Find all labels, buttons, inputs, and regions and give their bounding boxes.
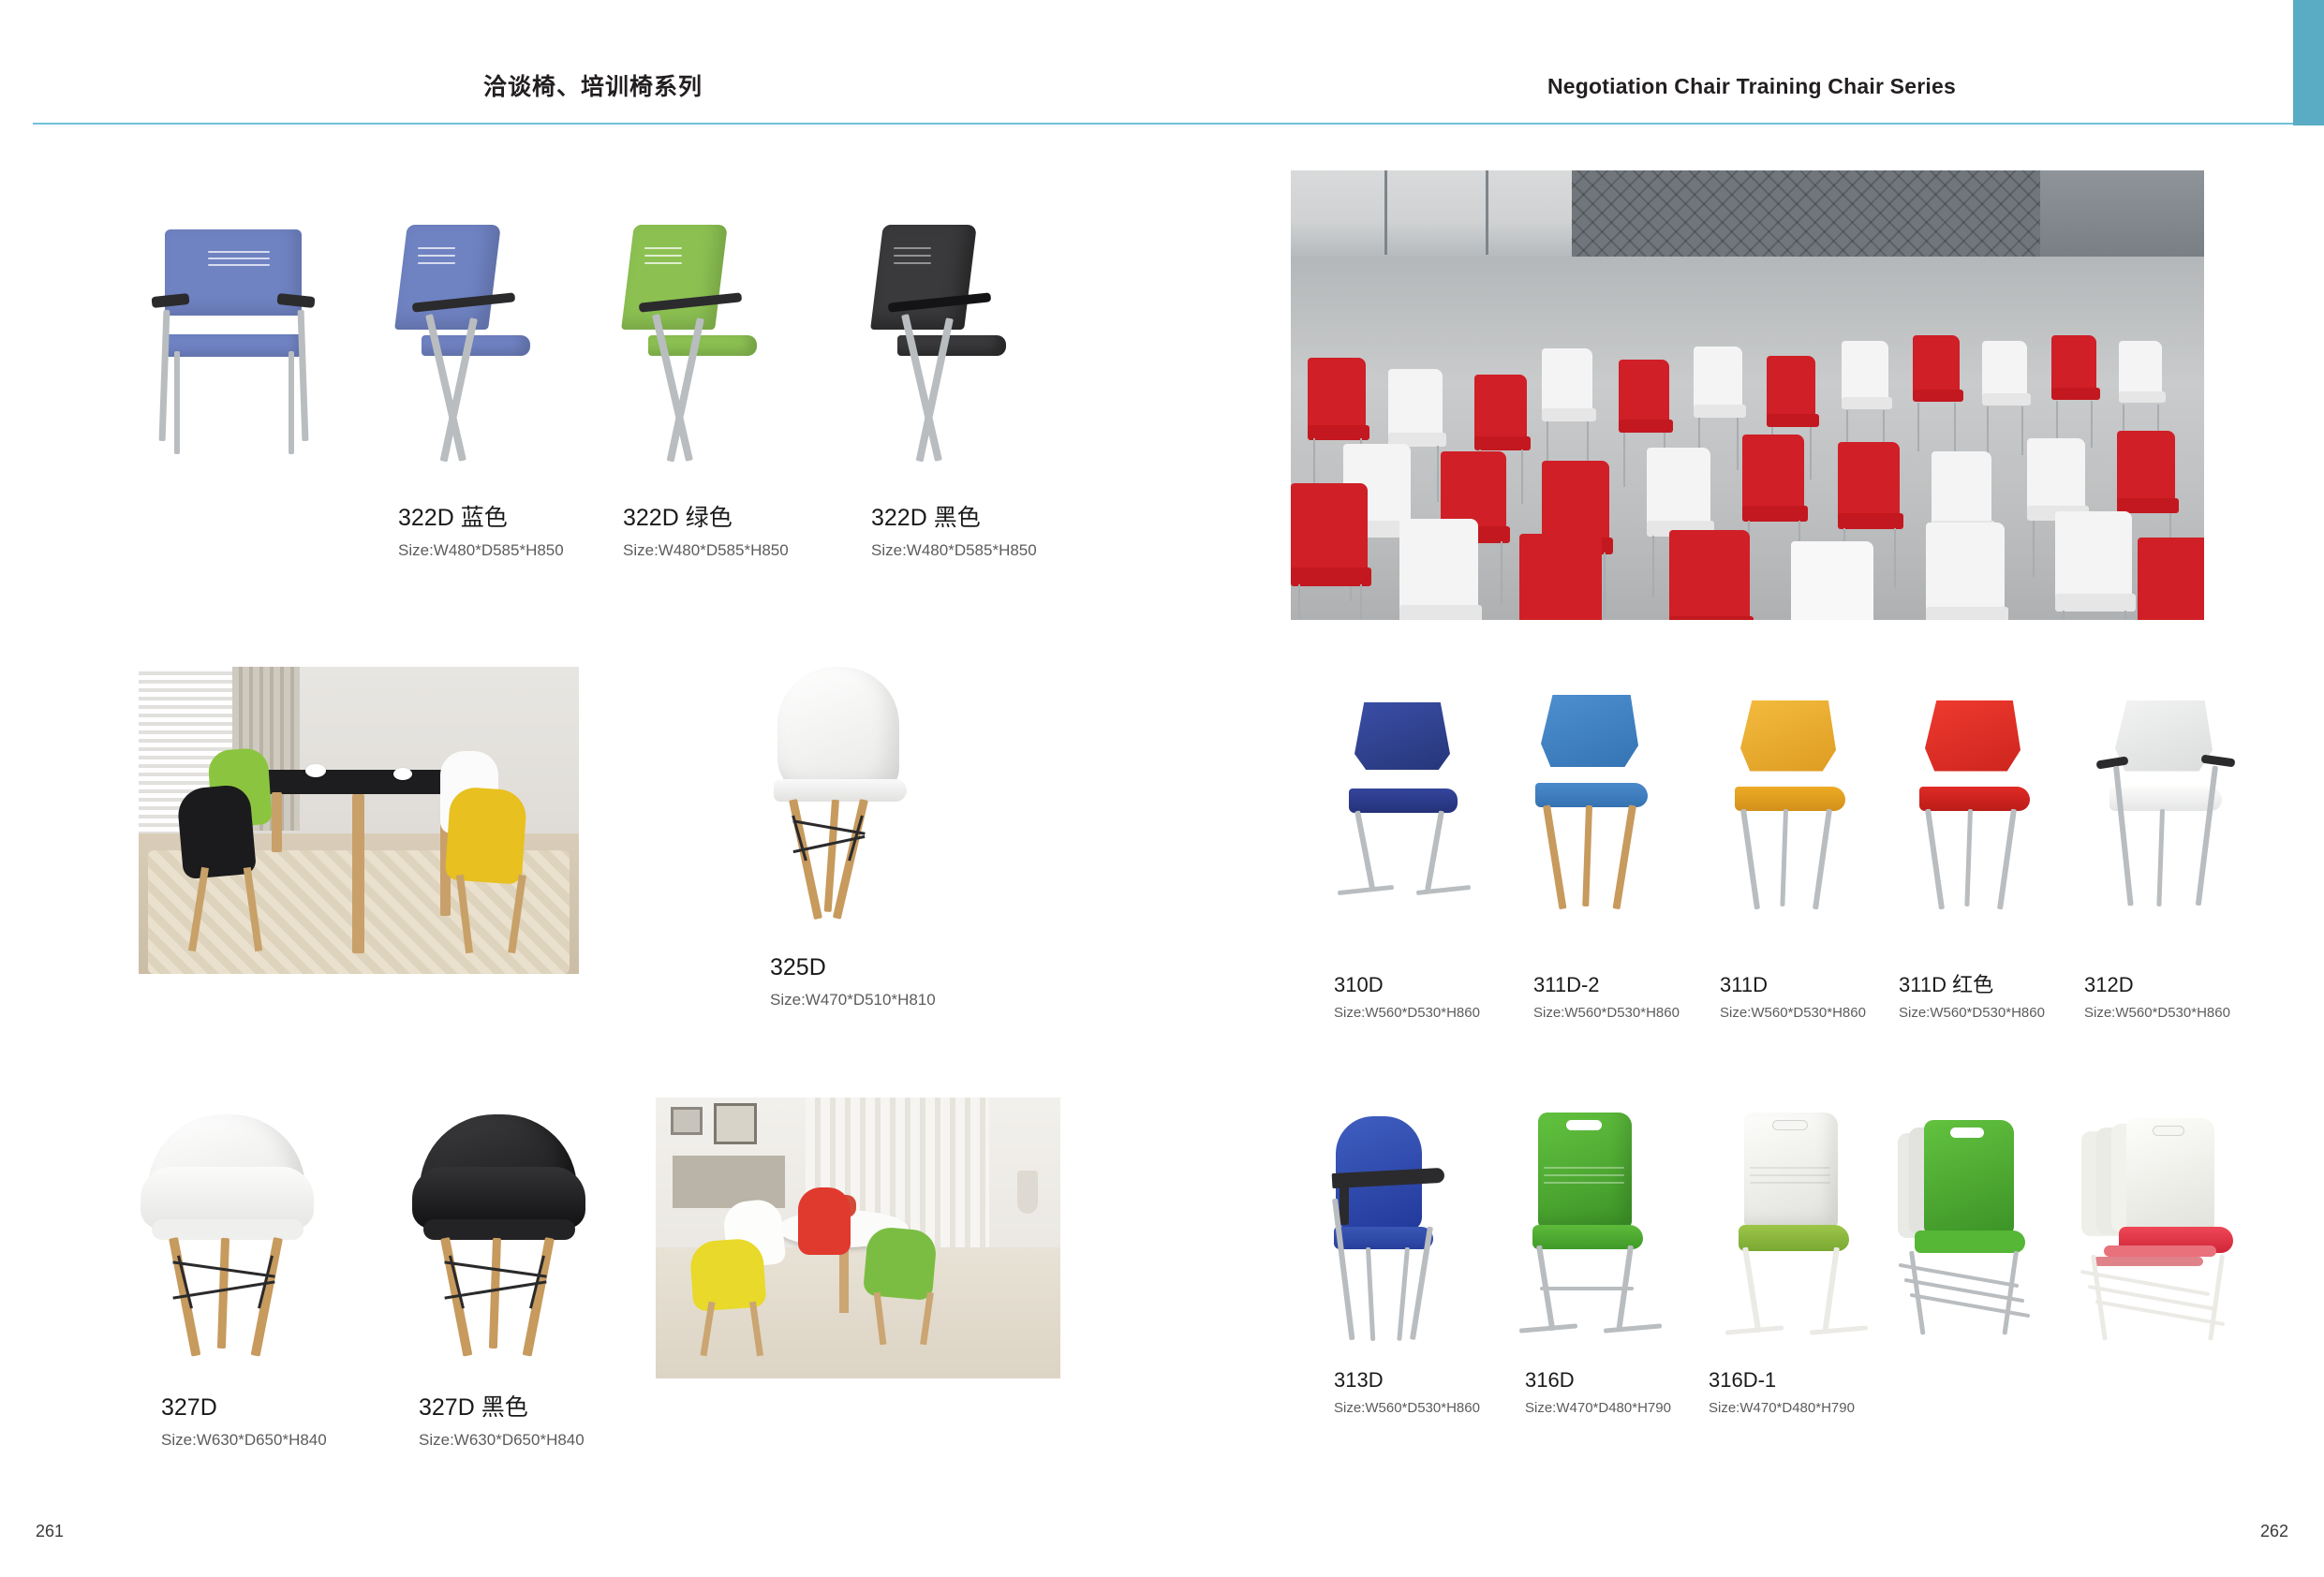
product-image-312d [2091, 700, 2241, 920]
product-size: Size:W480*D585*H850 [623, 542, 789, 560]
chair-leg-wood [217, 1238, 229, 1349]
tablet-support-arm [1340, 1184, 1349, 1225]
dining-room-photo [139, 667, 579, 974]
vent-slot [894, 255, 931, 257]
auditorium-chair [1926, 523, 2008, 620]
catalog-page: 洽谈椅、培训椅系列 Negotiation Chair Training Cha… [0, 0, 2324, 1577]
product-size: Size:W560*D530*H860 [1899, 1006, 2045, 1022]
caption-313d: 313D Size:W560*D530*H860 [1334, 1369, 1480, 1417]
product-size: Size:W470*D480*H790 [1525, 1401, 1671, 1417]
product-size: Size:W480*D585*H850 [398, 542, 564, 560]
stack-runner [2095, 1300, 2226, 1326]
chair-seat [165, 334, 302, 357]
product-image-311d-2 [1522, 695, 1663, 920]
header-divider [33, 123, 2293, 125]
chair-seat [774, 779, 907, 802]
caption-322d-black: 322D 黑色 Size:W480*D585*H850 [871, 506, 1037, 559]
product-image-322d-blue-front [141, 229, 328, 478]
product-image-325d [740, 667, 937, 938]
product-name: 313D [1334, 1369, 1480, 1392]
product-name: 325D [770, 955, 936, 981]
product-image-311d-red [1906, 700, 2047, 920]
product-name: 322D 绿色 [623, 506, 789, 532]
vent-slot [894, 262, 931, 264]
chair-shell [777, 667, 899, 796]
product-image-310d [1334, 702, 1474, 918]
stack-leg [2091, 1255, 2108, 1341]
living-chair-red [798, 1187, 851, 1255]
product-name: 322D 蓝色 [398, 506, 564, 532]
accent-bar [2293, 0, 2324, 125]
stack-runner [2088, 1285, 2218, 1311]
rib-line [1750, 1167, 1830, 1169]
chair-leg [1964, 809, 1973, 906]
auditorium-chair [1542, 348, 1596, 478]
coffee-cup [393, 768, 412, 780]
sled-base [1425, 810, 1444, 891]
chair-back [1925, 700, 2021, 796]
chair-leg [289, 351, 294, 454]
chair-leg [1780, 809, 1788, 906]
chair-back [1354, 702, 1450, 796]
sled-base [1354, 810, 1375, 891]
chair-leg-wood [1543, 804, 1566, 909]
auditorium-chair [2138, 538, 2204, 620]
armrest-right [2201, 755, 2236, 768]
stack-leg [2002, 1251, 2018, 1335]
caption-316d: 316D Size:W470*D480*H790 [1525, 1369, 1671, 1417]
product-size: Size:W630*D650*H840 [161, 1432, 327, 1450]
chair-seat [2109, 787, 2222, 811]
vent-slot [644, 262, 682, 264]
product-name: 311D-2 [1533, 974, 1680, 996]
product-name: 312D [2084, 974, 2230, 996]
sled-runner [1338, 885, 1394, 895]
auditorium-chair [1291, 483, 1371, 620]
chair-leg [1925, 809, 1945, 910]
rib-line [1544, 1174, 1624, 1176]
vent-slot [418, 255, 455, 257]
product-name: 311D [1720, 974, 1866, 996]
chair-back [621, 225, 728, 330]
vent-slot [208, 264, 270, 266]
chair-back [2115, 700, 2213, 796]
auditorium-chair [1791, 541, 1877, 620]
rib-line [1750, 1182, 1830, 1184]
page-number-right: 262 [2260, 1522, 2288, 1541]
chair-back [1541, 695, 1638, 792]
chair-seat [1532, 1225, 1643, 1249]
product-size: Size:W560*D530*H860 [1533, 1006, 1680, 1022]
page-title-en: Negotiation Chair Training Chair Series [1547, 74, 1956, 99]
caption-311d: 311D Size:W560*D530*H860 [1720, 974, 1866, 1022]
product-image-327d-black [403, 1114, 609, 1377]
chair-leg [1397, 1247, 1410, 1341]
dining-table-top [247, 770, 468, 794]
chair-leg [298, 310, 309, 441]
product-image-322d-green-side [594, 225, 781, 478]
product-image-316d [1517, 1113, 1677, 1347]
stage-block [2040, 170, 2204, 260]
chair-leg [174, 351, 180, 454]
chair-leg [2156, 809, 2165, 906]
product-image-313d [1311, 1116, 1475, 1350]
vent-slot [208, 258, 270, 259]
vent-slot [894, 247, 931, 249]
caption-311d-red: 311D 红色 Size:W560*D530*H860 [1899, 974, 2045, 1022]
chair-leg-wood [251, 1237, 283, 1357]
product-size: Size:W560*D530*H860 [2084, 1006, 2230, 1022]
wall-picture [714, 1103, 757, 1144]
sled-runner [1604, 1323, 1662, 1333]
stack-seat-ghost [2093, 1257, 2203, 1266]
dining-chair-yellow [445, 786, 528, 884]
product-size: Size:W630*D650*H840 [419, 1432, 585, 1450]
vent-slot [418, 247, 455, 249]
product-size: Size:W560*D530*H860 [1334, 1401, 1480, 1417]
rib-line [1750, 1174, 1830, 1176]
caption-322d-green: 322D 绿色 Size:W480*D585*H850 [623, 506, 789, 559]
vent-slot [644, 255, 682, 257]
table-leg [272, 792, 282, 852]
sled-runner [1810, 1325, 1868, 1334]
page-number-left: 261 [36, 1522, 64, 1541]
caption-310d: 310D Size:W560*D530*H860 [1334, 974, 1480, 1022]
chair-leg-wood [1613, 804, 1636, 909]
caption-312d: 312D Size:W560*D530*H860 [2084, 974, 2230, 1022]
caption-327d-black: 327D 黑色 Size:W630*D650*H840 [419, 1395, 585, 1449]
product-name: 310D [1334, 974, 1480, 996]
chair-seat [1915, 1231, 2025, 1253]
coffee-cup [305, 764, 326, 777]
chair-seat-upholstered [1739, 1225, 1849, 1251]
chair-back [1740, 700, 1836, 796]
auditorium-chair [1982, 341, 2031, 461]
chair-leg [1813, 809, 1832, 910]
support-pole [1384, 170, 1387, 255]
chair-leg [159, 310, 170, 441]
sled-crossbar [1540, 1287, 1634, 1290]
auditorium-chair [2051, 335, 2100, 453]
stacked-green-chairs [1892, 1114, 2080, 1349]
table-leg [352, 794, 364, 953]
support-pole [1486, 170, 1488, 255]
decorative-wall-panel [1572, 170, 2040, 258]
chair-back [394, 225, 501, 330]
product-name: 316D [1525, 1369, 1671, 1392]
product-name: 311D 红色 [1899, 974, 2045, 996]
chair-back [870, 225, 977, 330]
handle-cutout [1950, 1127, 1984, 1138]
living-chair-green [863, 1226, 938, 1301]
page-title-cn: 洽谈椅、培训椅系列 [483, 68, 703, 102]
stacked-white-red-chairs [2078, 1114, 2274, 1349]
caption-325d: 325D Size:W470*D510*H810 [770, 955, 936, 1009]
sled-leg [1822, 1247, 1840, 1334]
product-image-311d [1722, 700, 1862, 920]
vent-slot [418, 262, 455, 264]
product-name: 316D-1 [1709, 1369, 1855, 1392]
chair-leg-wood [523, 1237, 555, 1357]
sideboard [673, 1156, 785, 1208]
product-name: 327D 黑色 [419, 1395, 585, 1422]
caption-327d: 327D Size:W630*D650*H840 [161, 1395, 327, 1449]
living-room-photo [656, 1098, 1060, 1378]
handle-cutout [1566, 1120, 1602, 1130]
product-size: Size:W480*D585*H850 [871, 542, 1037, 560]
caption-311d-2: 311D-2 Size:W560*D530*H860 [1533, 974, 1680, 1022]
auditorium-chair [1519, 534, 1606, 620]
chair-leg [1740, 809, 1760, 910]
product-name: 322D 黑色 [871, 506, 1037, 532]
product-size: Size:W470*D510*H810 [770, 992, 936, 1010]
sled-leg [1742, 1247, 1761, 1334]
dining-chair-black [176, 784, 257, 879]
wall-picture [671, 1107, 703, 1135]
chair-leg [1366, 1247, 1375, 1341]
stack-leg [2208, 1255, 2225, 1341]
rib-line [1544, 1167, 1624, 1169]
auditorium-chair [1913, 335, 1963, 457]
chair-seat [1535, 783, 1648, 807]
caption-316d-1: 316D-1 Size:W470*D480*H790 [1709, 1369, 1855, 1417]
product-name: 327D [161, 1395, 327, 1422]
vent-slot [644, 247, 682, 249]
vase [1017, 1171, 1038, 1214]
product-image-327d-white [131, 1114, 337, 1377]
chair-leg [1997, 809, 2017, 910]
product-image-316d-1 [1724, 1113, 1883, 1347]
auditorium-seating-photo [1291, 170, 2204, 620]
product-size: Size:W560*D530*H860 [1720, 1006, 1866, 1022]
handle-cutout [1772, 1120, 1808, 1130]
product-image-322d-black-side [843, 225, 1030, 478]
chair-seat [1349, 788, 1458, 813]
rib-line [1544, 1182, 1624, 1184]
stack-seat-ghost [2104, 1245, 2216, 1257]
product-size: Size:W470*D480*H790 [1709, 1401, 1855, 1417]
chair-seat [1735, 787, 1845, 811]
product-image-322d-blue-side [367, 225, 555, 478]
auditorium-chair [1669, 530, 1754, 620]
auditorium-chair [1399, 519, 1482, 620]
handle-cutout [2153, 1126, 2184, 1136]
vent-slot [208, 251, 270, 253]
chair-leg-wood [1582, 805, 1592, 906]
chair-seat [1334, 1227, 1433, 1249]
product-size: Size:W560*D530*H860 [1334, 1006, 1480, 1022]
chair-seat [1919, 787, 2030, 811]
chair-leg-wood [489, 1238, 501, 1349]
auditorium-chair [2055, 511, 2136, 620]
living-chair-yellow [689, 1237, 767, 1311]
caption-322d-blue: 322D 蓝色 Size:W480*D585*H850 [398, 506, 564, 559]
